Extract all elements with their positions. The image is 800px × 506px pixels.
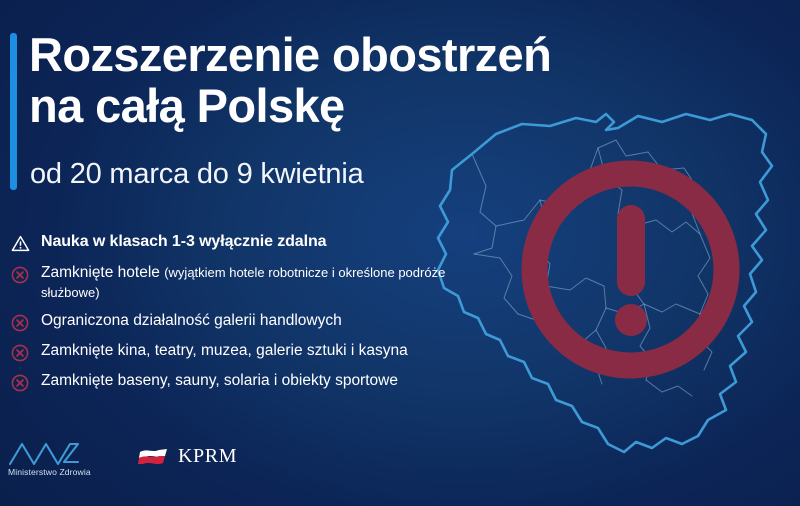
restrictions-list: Nauka w klasach 1-3 wyłącznie zdalna Zam… (11, 232, 481, 399)
polish-flag-icon (138, 447, 169, 466)
list-item: Ograniczona działalność galerii handlowy… (11, 311, 481, 332)
list-item: Nauka w klasach 1-3 wyłącznie zdalna (11, 232, 481, 253)
page-subtitle: od 20 marca do 9 kwietnia (30, 158, 364, 191)
kprm-label: KPRM (178, 445, 237, 468)
footer-logos: Ministerstwo Zdrowia KPRM (8, 440, 237, 477)
list-item-label: Ograniczona działalność galerii handlowy… (41, 311, 481, 331)
circle-x-icon (11, 311, 41, 332)
circle-x-icon (11, 341, 41, 362)
list-item-label: Zamknięte kina, teatry, muzea, galerie s… (41, 341, 481, 361)
list-item: Zamknięte kina, teatry, muzea, galerie s… (11, 341, 481, 362)
title-accent-bar (10, 33, 17, 190)
infographic-poster: Rozszerzenie obostrzeń na całą Polskę od… (0, 0, 800, 506)
circle-x-icon (11, 263, 41, 284)
list-item-main-text: Zamknięte hotele (41, 264, 164, 281)
page-title: Rozszerzenie obostrzeń na całą Polskę (29, 29, 589, 131)
list-item-label: Zamknięte hotele (wyjątkiem hotele robot… (41, 263, 481, 302)
exclamation-mark-icon (519, 158, 742, 381)
list-item: Zamknięte hotele (wyjątkiem hotele robot… (11, 263, 481, 302)
ministry-of-health-logo: Ministerstwo Zdrowia (8, 440, 96, 477)
mz-zigzag-logo-icon (8, 440, 82, 466)
list-item-label: Zamknięte baseny, sauny, solaria i obiek… (41, 371, 481, 391)
circle-x-icon (11, 371, 41, 392)
ministry-caption: Ministerstwo Zdrowia (8, 467, 91, 477)
warning-triangle-icon (11, 232, 41, 253)
list-item: Zamknięte baseny, sauny, solaria i obiek… (11, 371, 481, 392)
kprm-logo: KPRM (138, 445, 237, 477)
list-item-label: Nauka w klasach 1-3 wyłącznie zdalna (41, 232, 481, 252)
